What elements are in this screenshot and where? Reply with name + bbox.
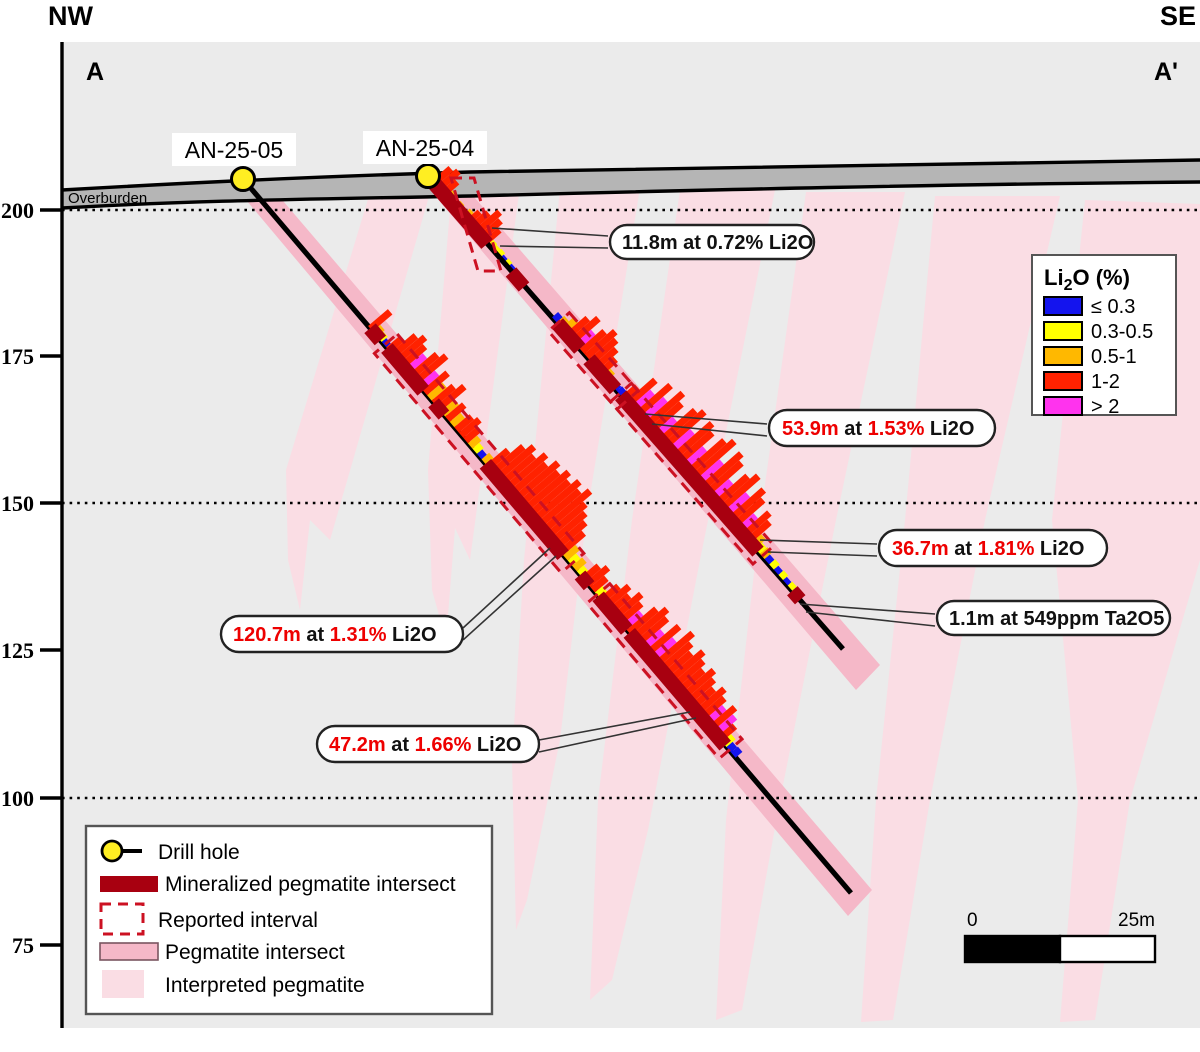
li2o-legend-item-1: 0.3-0.5 xyxy=(1044,321,1153,343)
li2o-label-1: 0.3-0.5 xyxy=(1091,321,1153,343)
li2o-label-2: 0.5-1 xyxy=(1091,346,1137,368)
li2o-swatch-3 xyxy=(1044,372,1082,390)
li2o-legend-item-3: 1-2 xyxy=(1044,371,1120,393)
callout-6-element: Li2O xyxy=(477,734,521,756)
collar-marker-AN-25-04[interactable] xyxy=(417,165,440,188)
svg-text:1.1m at 549ppm Ta2O5: 1.1m at 549ppm Ta2O5 xyxy=(949,608,1164,630)
callout-4-at: at xyxy=(1000,608,1018,630)
callout-2-width: 53.9m xyxy=(782,418,839,440)
callout-3-grade: 1.81% xyxy=(978,538,1035,560)
interpreted-pegmatite-swatch xyxy=(102,970,144,998)
compass-label-nw: NW xyxy=(48,1,93,31)
hole-label-AN-25-05: AN-25-05 xyxy=(185,137,283,163)
scale-bar-left-label: 0 xyxy=(967,910,978,931)
callout-5-grade: 1.31% xyxy=(330,624,387,646)
legend-label-interpreted-pegmatite: Interpreted pegmatite xyxy=(165,974,365,997)
axis-tick-150: 150 xyxy=(1,491,34,516)
callout-3-at: at xyxy=(954,538,972,560)
mineralized-swatch xyxy=(100,876,158,892)
li2o-swatch-1 xyxy=(1044,322,1082,340)
legend-item-pegmatite-intersect: Pegmatite intersect xyxy=(100,941,345,964)
li2o-swatch-4 xyxy=(1044,397,1082,415)
callout-6-at: at xyxy=(391,734,409,756)
callout-5-element: Li2O xyxy=(392,624,436,646)
callout-1-1m-ta2o5[interactable]: 1.1m at 549ppm Ta2O5 xyxy=(937,601,1170,635)
callout-4-width: 1.1m xyxy=(949,608,995,630)
callout-11-8m[interactable]: 11.8m at 0.72% Li2O xyxy=(610,225,814,259)
li2o-swatch-0 xyxy=(1044,297,1082,315)
callout-5-width: 120.7m xyxy=(233,624,301,646)
section-label-a: A xyxy=(86,58,104,86)
callout-4-element: Ta2O5 xyxy=(1105,608,1165,630)
overburden-label: Overburden xyxy=(68,190,147,207)
axis-tick-125: 125 xyxy=(1,638,34,663)
li2o-legend-item-2: 0.5-1 xyxy=(1044,346,1137,368)
svg-text:47.2m at 1.66% Li2O: 47.2m at 1.66% Li2O xyxy=(329,734,521,756)
li2o-label-4: > 2 xyxy=(1091,396,1119,418)
li2o-legend: Li2O (%) ≤ 0.3 0.3-0.5 0.5-1 1-2 > 2 xyxy=(1032,255,1176,418)
callout-120-7m[interactable]: 120.7m at 1.31% Li2O xyxy=(221,616,463,652)
callout-2-at: at xyxy=(844,418,862,440)
collar-marker-AN-25-05[interactable] xyxy=(232,168,255,191)
callout-5-at: at xyxy=(306,624,324,646)
hole-label-AN-25-04: AN-25-04 xyxy=(376,135,475,161)
callout-6-grade: 1.66% xyxy=(415,734,472,756)
legend-label-mineralized: Mineralized pegmatite intersect xyxy=(165,873,456,896)
svg-text:36.7m at 1.81% Li2O: 36.7m at 1.81% Li2O xyxy=(892,538,1084,560)
svg-text:11.8m at 0.72% Li2O: 11.8m at 0.72% Li2O xyxy=(622,232,813,254)
main-legend: Drill hole Mineralized pegmatite interse… xyxy=(86,826,492,1014)
li2o-swatch-2 xyxy=(1044,347,1082,365)
callout-2-grade: 1.53% xyxy=(868,418,925,440)
li2o-legend-title: Li2O (%) xyxy=(1044,265,1130,294)
svg-text:120.7m at 1.31% Li2O: 120.7m at 1.31% Li2O xyxy=(233,624,437,646)
callout-1-element: Li2O xyxy=(769,232,813,254)
axis-tick-175: 175 xyxy=(1,344,34,369)
axis-tick-75: 75 xyxy=(12,933,34,958)
scale-bar-white-half xyxy=(1060,936,1155,962)
callout-3-element: Li2O xyxy=(1040,538,1084,560)
callout-4-grade: 549ppm xyxy=(1024,608,1100,630)
legend-label-pegmatite-intersect: Pegmatite intersect xyxy=(165,941,345,964)
callout-3-width: 36.7m xyxy=(892,538,949,560)
callout-1-width: 11.8m xyxy=(622,232,678,254)
callout-6-width: 47.2m xyxy=(329,734,386,756)
callout-47-2m[interactable]: 47.2m at 1.66% Li2O xyxy=(317,726,539,762)
callout-1-grade: 0.72% xyxy=(707,232,764,254)
li2o-label-3: 1-2 xyxy=(1091,371,1120,393)
callout-36-7m[interactable]: 36.7m at 1.81% Li2O xyxy=(879,530,1107,566)
section-label-a-prime: A' xyxy=(1154,58,1178,86)
axis-tick-200: 200 xyxy=(1,198,34,223)
li2o-label-0: ≤ 0.3 xyxy=(1091,296,1135,318)
scale-bar-black-half xyxy=(965,936,1060,962)
legend-label-reported-interval: Reported interval xyxy=(158,909,318,932)
callout-53-9m[interactable]: 53.9m at 1.53% Li2O xyxy=(769,410,995,446)
scale-bar-right-label: 25m xyxy=(1118,910,1155,931)
legend-item-interpreted-pegmatite: Interpreted pegmatite xyxy=(102,970,365,998)
legend-label-drill-hole: Drill hole xyxy=(158,841,240,864)
pegmatite-intersect-swatch xyxy=(100,943,158,960)
compass-label-se: SE xyxy=(1160,1,1196,31)
callout-1-at: at xyxy=(683,232,701,254)
axis-tick-100: 100 xyxy=(1,786,34,811)
callout-2-element: Li2O xyxy=(930,418,974,440)
cross-section-figure: NW SE A A' Overburden xyxy=(0,0,1200,1052)
li2o-legend-item-4: > 2 xyxy=(1044,396,1119,418)
svg-text:53.9m at 1.53% Li2O: 53.9m at 1.53% Li2O xyxy=(782,418,974,440)
drill-hole-icon xyxy=(102,841,122,861)
